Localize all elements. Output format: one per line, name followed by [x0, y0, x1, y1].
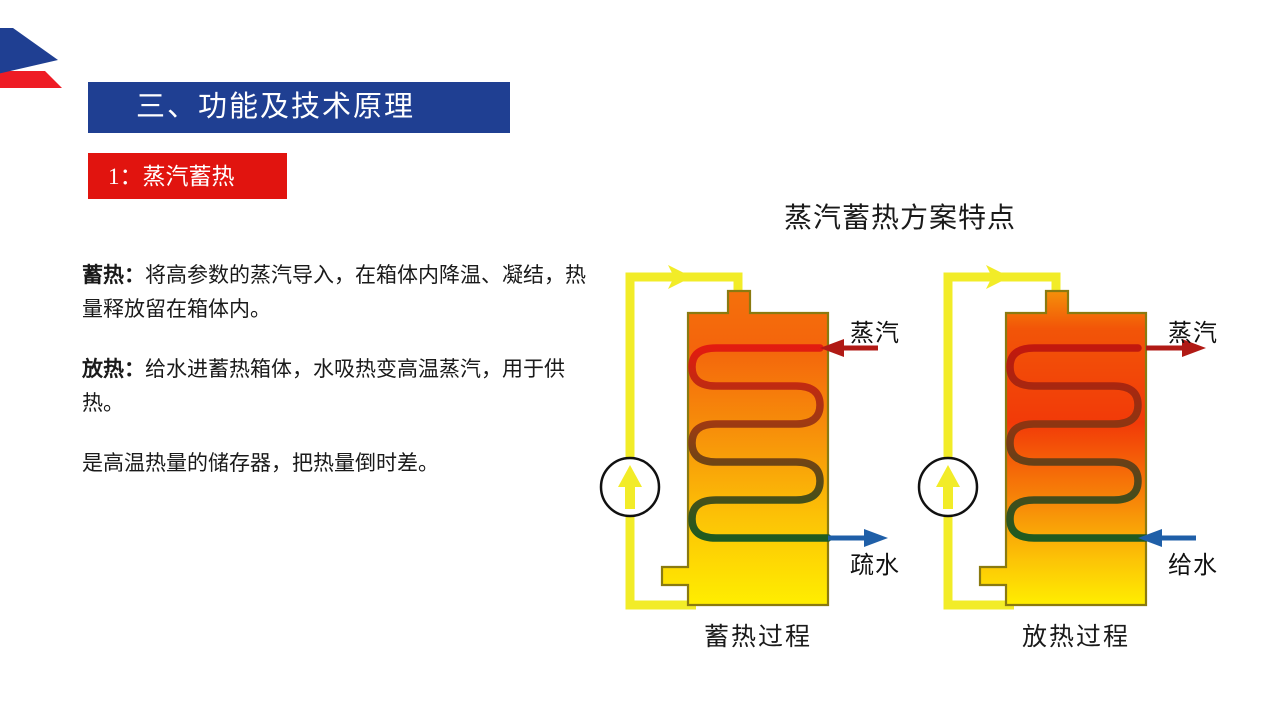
section-banner-label: 三、功能及技术原理	[88, 93, 415, 122]
body-copy: 蓄热：将高参数的蒸汽导入，在箱体内降温、凝结，热量释放留在箱体内。 放热：给水进…	[82, 258, 602, 480]
logo-blue-shape	[0, 28, 58, 78]
figure-caption-charging: 蓄热过程	[588, 617, 928, 653]
figure-charging: 蒸汽 疏水 蓄热过程	[588, 255, 928, 675]
corner-logo	[0, 16, 70, 106]
feedwater-label-discharging: 给水	[1168, 545, 1218, 580]
paragraph-release-text: 给水进蓄热箱体，水吸热变高温蒸汽，用于供热。	[82, 357, 565, 415]
pump-discharging	[919, 458, 977, 516]
paragraph-storage-text: 将高参数的蒸汽导入，在箱体内降温、凝结，热量释放留在箱体内。	[82, 263, 586, 321]
paragraph-release-lead: 放热：	[82, 357, 145, 381]
pump-charging	[601, 458, 659, 516]
figure-discharging: 蒸汽 给水 放热过程	[906, 255, 1246, 675]
diagram-title: 蒸汽蓄热方案特点	[700, 196, 1100, 236]
subsection-banner: 1：蒸汽蓄热	[88, 153, 287, 199]
logo-red-shape	[0, 71, 62, 88]
steam-label-charging: 蒸汽	[850, 313, 900, 348]
steam-label-discharging: 蒸汽	[1168, 313, 1218, 348]
corner-logo-shape	[0, 16, 70, 106]
paragraph-summary-text: 是高温热量的储存器，把热量倒时差。	[82, 451, 439, 475]
section-banner: 三、功能及技术原理	[88, 82, 510, 133]
tank-discharging	[980, 291, 1146, 605]
tank-charging	[662, 291, 828, 605]
paragraph-release: 放热：给水进蓄热箱体，水吸热变高温蒸汽，用于供热。	[82, 352, 602, 420]
paragraph-summary: 是高温热量的储存器，把热量倒时差。	[82, 446, 602, 480]
subsection-banner-label: 1：蒸汽蓄热	[88, 165, 235, 188]
paragraph-storage: 蓄热：将高参数的蒸汽导入，在箱体内降温、凝结，热量释放留在箱体内。	[82, 258, 602, 326]
drain-label-charging: 疏水	[850, 545, 900, 580]
figure-caption-discharging: 放热过程	[906, 617, 1246, 653]
diagram-area: 蒸汽 疏水 蓄热过程	[588, 255, 1280, 675]
slide-canvas: 三、功能及技术原理 1：蒸汽蓄热 蓄热：将高参数的蒸汽导入，在箱体内降温、凝结，…	[0, 0, 1280, 720]
paragraph-storage-lead: 蓄热：	[82, 263, 145, 287]
